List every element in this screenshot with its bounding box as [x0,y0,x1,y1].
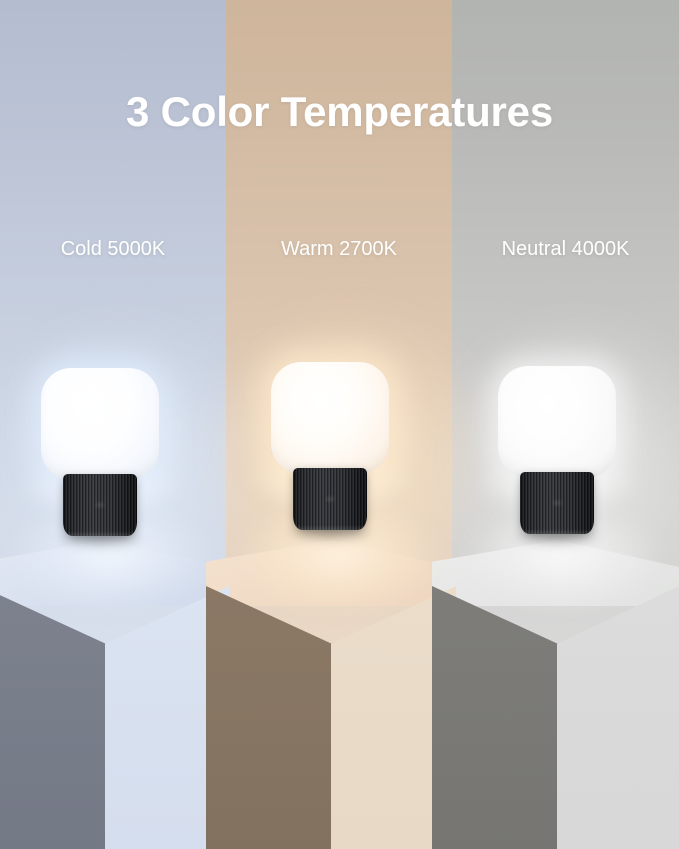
lamp-shade-warm [271,362,389,474]
lamp-shade-cold [41,368,159,480]
lamp-base-warm [293,468,367,530]
lamp-neutral [472,366,642,566]
lamp-cold [15,368,185,568]
label-neutral: Neutral 4000K [452,238,679,261]
page-title: 3 Color Temperatures [0,88,679,136]
lamp-base-neutral [520,472,594,534]
color-temperature-comparison: 3 Color Temperatures Cold 5000K Warm 270… [0,0,679,849]
lamp-base-cold [63,474,137,536]
lamp-shade-neutral [498,366,616,478]
lamp-warm [245,362,415,562]
label-cold: Cold 5000K [0,238,226,261]
label-warm: Warm 2700K [226,238,452,261]
